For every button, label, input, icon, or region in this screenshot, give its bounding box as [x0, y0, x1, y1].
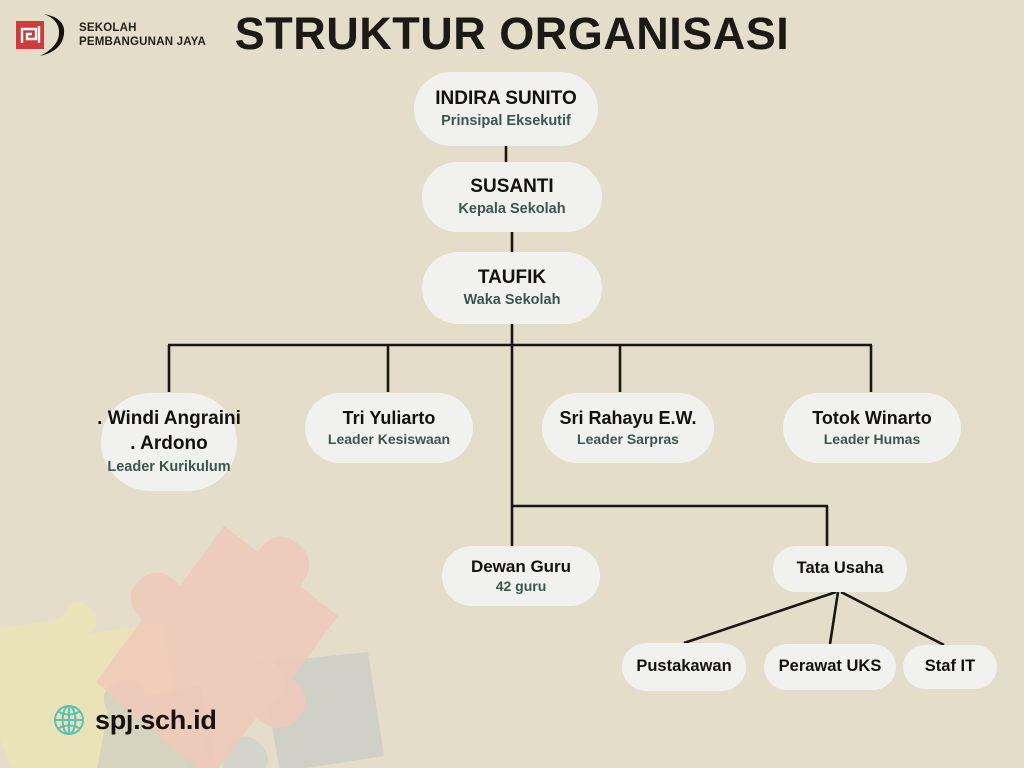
site-url: spj.sch.id — [95, 705, 217, 736]
org-node-role: Waka Sekolah — [464, 292, 561, 309]
connector-tatausaha-stafit — [841, 592, 944, 645]
connector-tatausaha-pustakawan — [684, 592, 836, 643]
org-node-kurikulum[interactable]: . Windi Angraini . Ardono Leader Kurikul… — [101, 393, 237, 491]
org-node-name: INDIRA SUNITO — [435, 88, 576, 110]
org-node-name: Tri Yuliarto — [343, 408, 436, 429]
brand-name: SEKOLAH PEMBANGUNAN JAYA — [79, 21, 206, 49]
org-node-name: Perawat UKS — [779, 657, 882, 676]
org-node-name: . Windi Angraini — [97, 407, 241, 431]
org-node-humas[interactable]: Totok Winarto Leader Humas — [783, 393, 961, 463]
brand-line-1: SEKOLAH — [79, 21, 206, 35]
org-node-name-2: . Ardono — [130, 432, 207, 456]
org-node-taufik[interactable]: TAUFIK Waka Sekolah — [422, 252, 602, 324]
org-node-name: Tata Usaha — [797, 559, 884, 578]
brand-line-2: PEMBANGUNAN JAYA — [79, 35, 206, 49]
org-node-role: Leader Kurikulum — [107, 459, 230, 476]
org-node-indira[interactable]: INDIRA SUNITO Prinsipal Eksekutif — [414, 72, 598, 146]
brand-logo: SEKOLAH PEMBANGUNAN JAYA — [14, 12, 206, 58]
org-node-dewan-guru[interactable]: Dewan Guru 42 guru — [442, 546, 600, 606]
org-node-name: Staf IT — [925, 657, 975, 676]
org-node-sarpras[interactable]: Sri Rahayu E.W. Leader Sarpras — [542, 393, 714, 463]
org-node-name: Pustakawan — [636, 657, 731, 676]
org-node-role: Prinsipal Eksekutif — [441, 113, 571, 130]
org-node-role: Kepala Sekolah — [458, 201, 565, 218]
org-node-name: Totok Winarto — [812, 408, 932, 429]
org-node-name: Dewan Guru — [471, 557, 571, 577]
org-node-pustakawan[interactable]: Pustakawan — [622, 643, 746, 691]
site-footer: spj.sch.id — [52, 703, 217, 737]
puzzle-piece-yellow — [0, 602, 207, 768]
org-node-susanti[interactable]: SUSANTI Kepala Sekolah — [422, 162, 602, 232]
connector-tatausaha-perawat — [830, 592, 838, 644]
org-node-role: Leader Kesiswaan — [328, 431, 450, 448]
globe-icon — [52, 703, 86, 737]
spj-maze-logo-icon — [14, 12, 72, 58]
org-node-perawat-uks[interactable]: Perawat UKS — [764, 644, 896, 690]
org-node-role: Leader Sarpras — [577, 431, 679, 448]
org-node-kesiswaan[interactable]: Tri Yuliarto Leader Kesiswaan — [305, 393, 473, 463]
org-node-staf-it[interactable]: Staf IT — [903, 645, 997, 689]
org-node-name: SUSANTI — [470, 176, 553, 198]
org-node-role: 42 guru — [496, 578, 547, 595]
org-node-tata-usaha[interactable]: Tata Usaha — [773, 546, 907, 592]
org-node-name: TAUFIK — [478, 267, 546, 289]
org-node-name: Sri Rahayu E.W. — [559, 408, 696, 429]
org-node-role: Leader Humas — [824, 431, 920, 448]
